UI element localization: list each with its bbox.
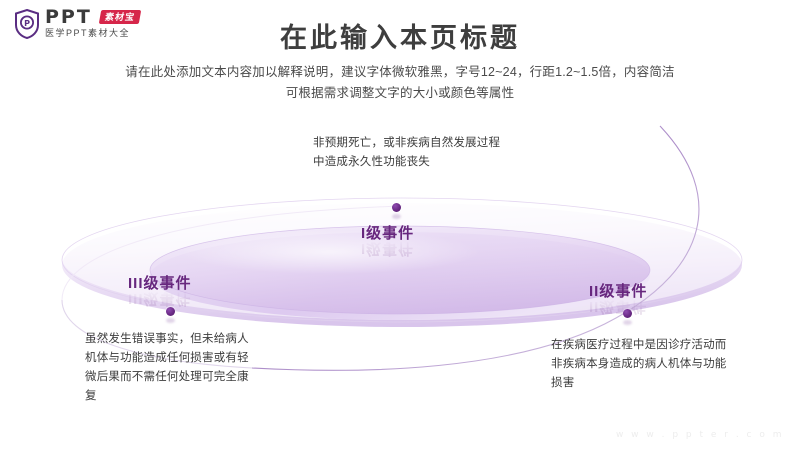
node-description-level-3: 虽然发生错误事实，但未给病人机体与功能造成任何损害或有轻微后果而不需任何处理可完… [85, 330, 257, 406]
node-dot-reflection-level-1 [392, 214, 401, 219]
node-description-level-2: 在疾病医疗过程中是因诊疗活动而非疾病本身造成的病人机体与功能损害 [551, 336, 733, 393]
node-label-reflection-level-1: I级事件 [361, 239, 414, 260]
node-description-level-1: 非预期死亡，或非疾病自然发展过程中造成永久性功能丧失 [313, 134, 503, 172]
node-dot-level-1[interactable] [392, 203, 401, 212]
slide-canvas: P PPT 素材宝 医学PPT素材大全 在此输入本页标题 请在此处添加文本内容加… [0, 0, 800, 450]
node-dot-reflection-level-3 [166, 318, 175, 323]
node-label-reflection-level-2: II级事件 [589, 297, 647, 318]
node-dot-reflection-level-2 [623, 320, 632, 325]
node-label-level-2[interactable]: II级事件 II级事件 [589, 280, 647, 301]
node-label-level-3[interactable]: III级事件 III级事件 [128, 272, 192, 293]
node-label-reflection-level-3: III级事件 [128, 289, 192, 310]
node-dot-level-3[interactable] [166, 307, 175, 316]
node-dot-level-2[interactable] [623, 309, 632, 318]
site-watermark: w w w . p p t e r . c o m [616, 430, 784, 440]
node-label-level-1[interactable]: I级事件 I级事件 [361, 222, 414, 243]
